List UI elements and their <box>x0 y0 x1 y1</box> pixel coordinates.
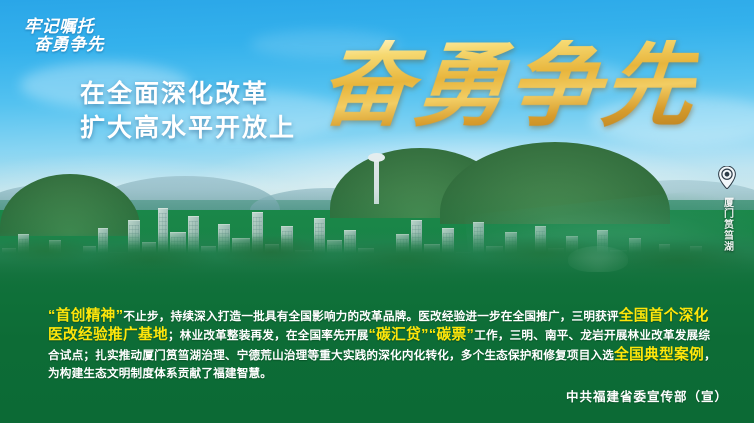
calligraphy-title: 奋勇争先 <box>316 40 700 132</box>
credit-line: 中共福建省委宣传部（宣） <box>566 386 728 405</box>
headline: 在全面深化改革 扩大高水平开放上 <box>80 78 296 145</box>
body-highlight-run: “ <box>48 308 56 324</box>
location-marker: 厦门筼筜湖 <box>712 166 742 257</box>
poster-canvas: 牢记嘱托 奋勇争先 在全面深化改革 扩大高水平开放上 奋勇争先 厦门筼筜湖 “首… <box>0 0 754 423</box>
body-copy: “首创精神”不止步，持续深入打造一批具有全国影响力的改革品牌。医改经验进一步在全… <box>48 307 720 384</box>
body-highlight-run: 首创精神 <box>56 308 116 324</box>
body-highlight-run: “碳汇贷” <box>368 327 428 343</box>
map-pin-icon <box>712 166 742 194</box>
body-text-run: ；林业改革整装再发，在全国率先开展 <box>168 329 369 342</box>
body-text-run: 不止步，持续深入打造一批具有全国影响力的改革品牌。医改经验进一步在全国推广，三明… <box>123 310 618 323</box>
location-label: 厦门筼筜湖 <box>720 197 735 252</box>
body-highlight-run: 全国典型案例 <box>614 347 704 363</box>
campaign-logo-line2: 奋勇争先 <box>14 36 126 54</box>
body-highlight-run: “碳票” <box>429 327 474 343</box>
campaign-logo: 牢记嘱托 奋勇争先 <box>14 18 126 64</box>
campaign-logo-line1: 牢记嘱托 <box>14 18 126 36</box>
panel-fade <box>0 258 754 298</box>
headline-line2: 扩大高水平开放上 <box>80 112 296 146</box>
headline-line1: 在全面深化改革 <box>80 78 296 112</box>
